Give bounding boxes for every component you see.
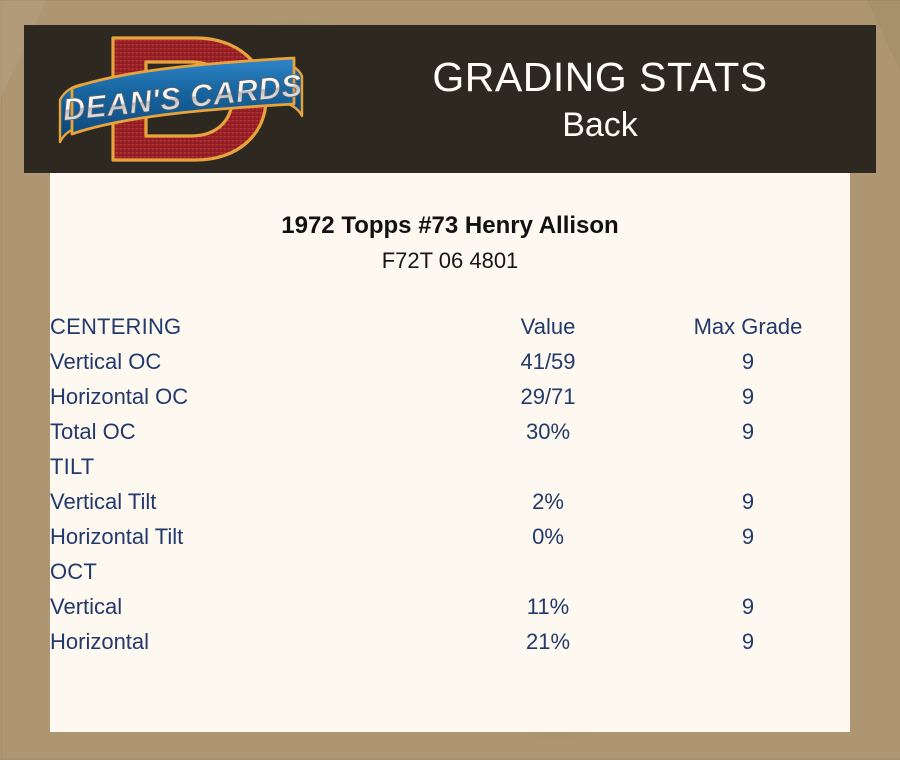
section-header-row-oct: OCT bbox=[50, 554, 850, 589]
row-label-horizontal: Horizontal bbox=[50, 624, 450, 659]
row-label-horizontal-oc: Horizontal OC bbox=[50, 379, 450, 414]
row-label-vertical-oc: Vertical OC bbox=[50, 344, 450, 379]
table-body: Vertical OC41/599Horizontal OC29/719Tota… bbox=[50, 344, 850, 659]
header-bar: DEAN'S CARDS GRADING STATS Back bbox=[24, 25, 876, 173]
deans-cards-logo-icon: DEAN'S CARDS bbox=[50, 28, 312, 170]
section-header-oct: OCT bbox=[50, 554, 450, 589]
row-value-vertical-tilt: 2% bbox=[450, 484, 646, 519]
column-header-max-grade: Max Grade bbox=[646, 309, 850, 344]
row-label-vertical: Vertical bbox=[50, 589, 450, 624]
table-row: Vertical OC41/599 bbox=[50, 344, 850, 379]
table-row: Vertical Tilt2%9 bbox=[50, 484, 850, 519]
row-value-total-oc: 30% bbox=[450, 414, 646, 449]
row-label-horizontal-tilt: Horizontal Tilt bbox=[50, 519, 450, 554]
row-max-grade-vertical-oc: 9 bbox=[646, 344, 850, 379]
row-value-vertical: 11% bbox=[450, 589, 646, 624]
header-titles: GRADING STATS Back bbox=[324, 25, 876, 173]
table-header-row: CENTERING Value Max Grade bbox=[50, 309, 850, 344]
grading-stats-table: CENTERING Value Max Grade Vertical OC41/… bbox=[50, 309, 850, 659]
card-title: 1972 Topps #73 Henry Allison bbox=[50, 211, 850, 241]
row-max-grade-vertical-tilt: 9 bbox=[646, 484, 850, 519]
row-value-horizontal-tilt: 0% bbox=[450, 519, 646, 554]
row-value-horizontal-oc: 29/71 bbox=[450, 379, 646, 414]
row-label-total-oc: Total OC bbox=[50, 414, 450, 449]
row-max-grade-horizontal-oc: 9 bbox=[646, 379, 850, 414]
row-label-vertical-tilt: Vertical Tilt bbox=[50, 484, 450, 519]
brand-logo[interactable]: DEAN'S CARDS bbox=[50, 28, 312, 170]
section-header-spacer-grade bbox=[646, 554, 850, 589]
column-header-centering: CENTERING bbox=[50, 309, 450, 344]
table-row: Horizontal Tilt0%9 bbox=[50, 519, 850, 554]
page-title: GRADING STATS bbox=[432, 52, 767, 102]
content-panel: 1972 Topps #73 Henry Allison F72T 06 480… bbox=[50, 173, 850, 732]
row-max-grade-total-oc: 9 bbox=[646, 414, 850, 449]
page-subtitle: Back bbox=[562, 104, 638, 146]
table-row: Total OC30%9 bbox=[50, 414, 850, 449]
table-row: Horizontal21%9 bbox=[50, 624, 850, 659]
section-header-tilt: TILT bbox=[50, 449, 450, 484]
column-header-value: Value bbox=[450, 309, 646, 344]
section-header-spacer-value bbox=[450, 554, 646, 589]
section-header-spacer-value bbox=[450, 449, 646, 484]
row-value-horizontal: 21% bbox=[450, 624, 646, 659]
table-header: CENTERING Value Max Grade bbox=[50, 309, 850, 344]
row-max-grade-vertical: 9 bbox=[646, 589, 850, 624]
card-serial-number: F72T 06 4801 bbox=[50, 247, 850, 275]
section-header-spacer-grade bbox=[646, 449, 850, 484]
table-row: Vertical11%9 bbox=[50, 589, 850, 624]
table-row: Horizontal OC29/719 bbox=[50, 379, 850, 414]
row-max-grade-horizontal: 9 bbox=[646, 624, 850, 659]
row-value-vertical-oc: 41/59 bbox=[450, 344, 646, 379]
row-max-grade-horizontal-tilt: 9 bbox=[646, 519, 850, 554]
section-header-row-tilt: TILT bbox=[50, 449, 850, 484]
